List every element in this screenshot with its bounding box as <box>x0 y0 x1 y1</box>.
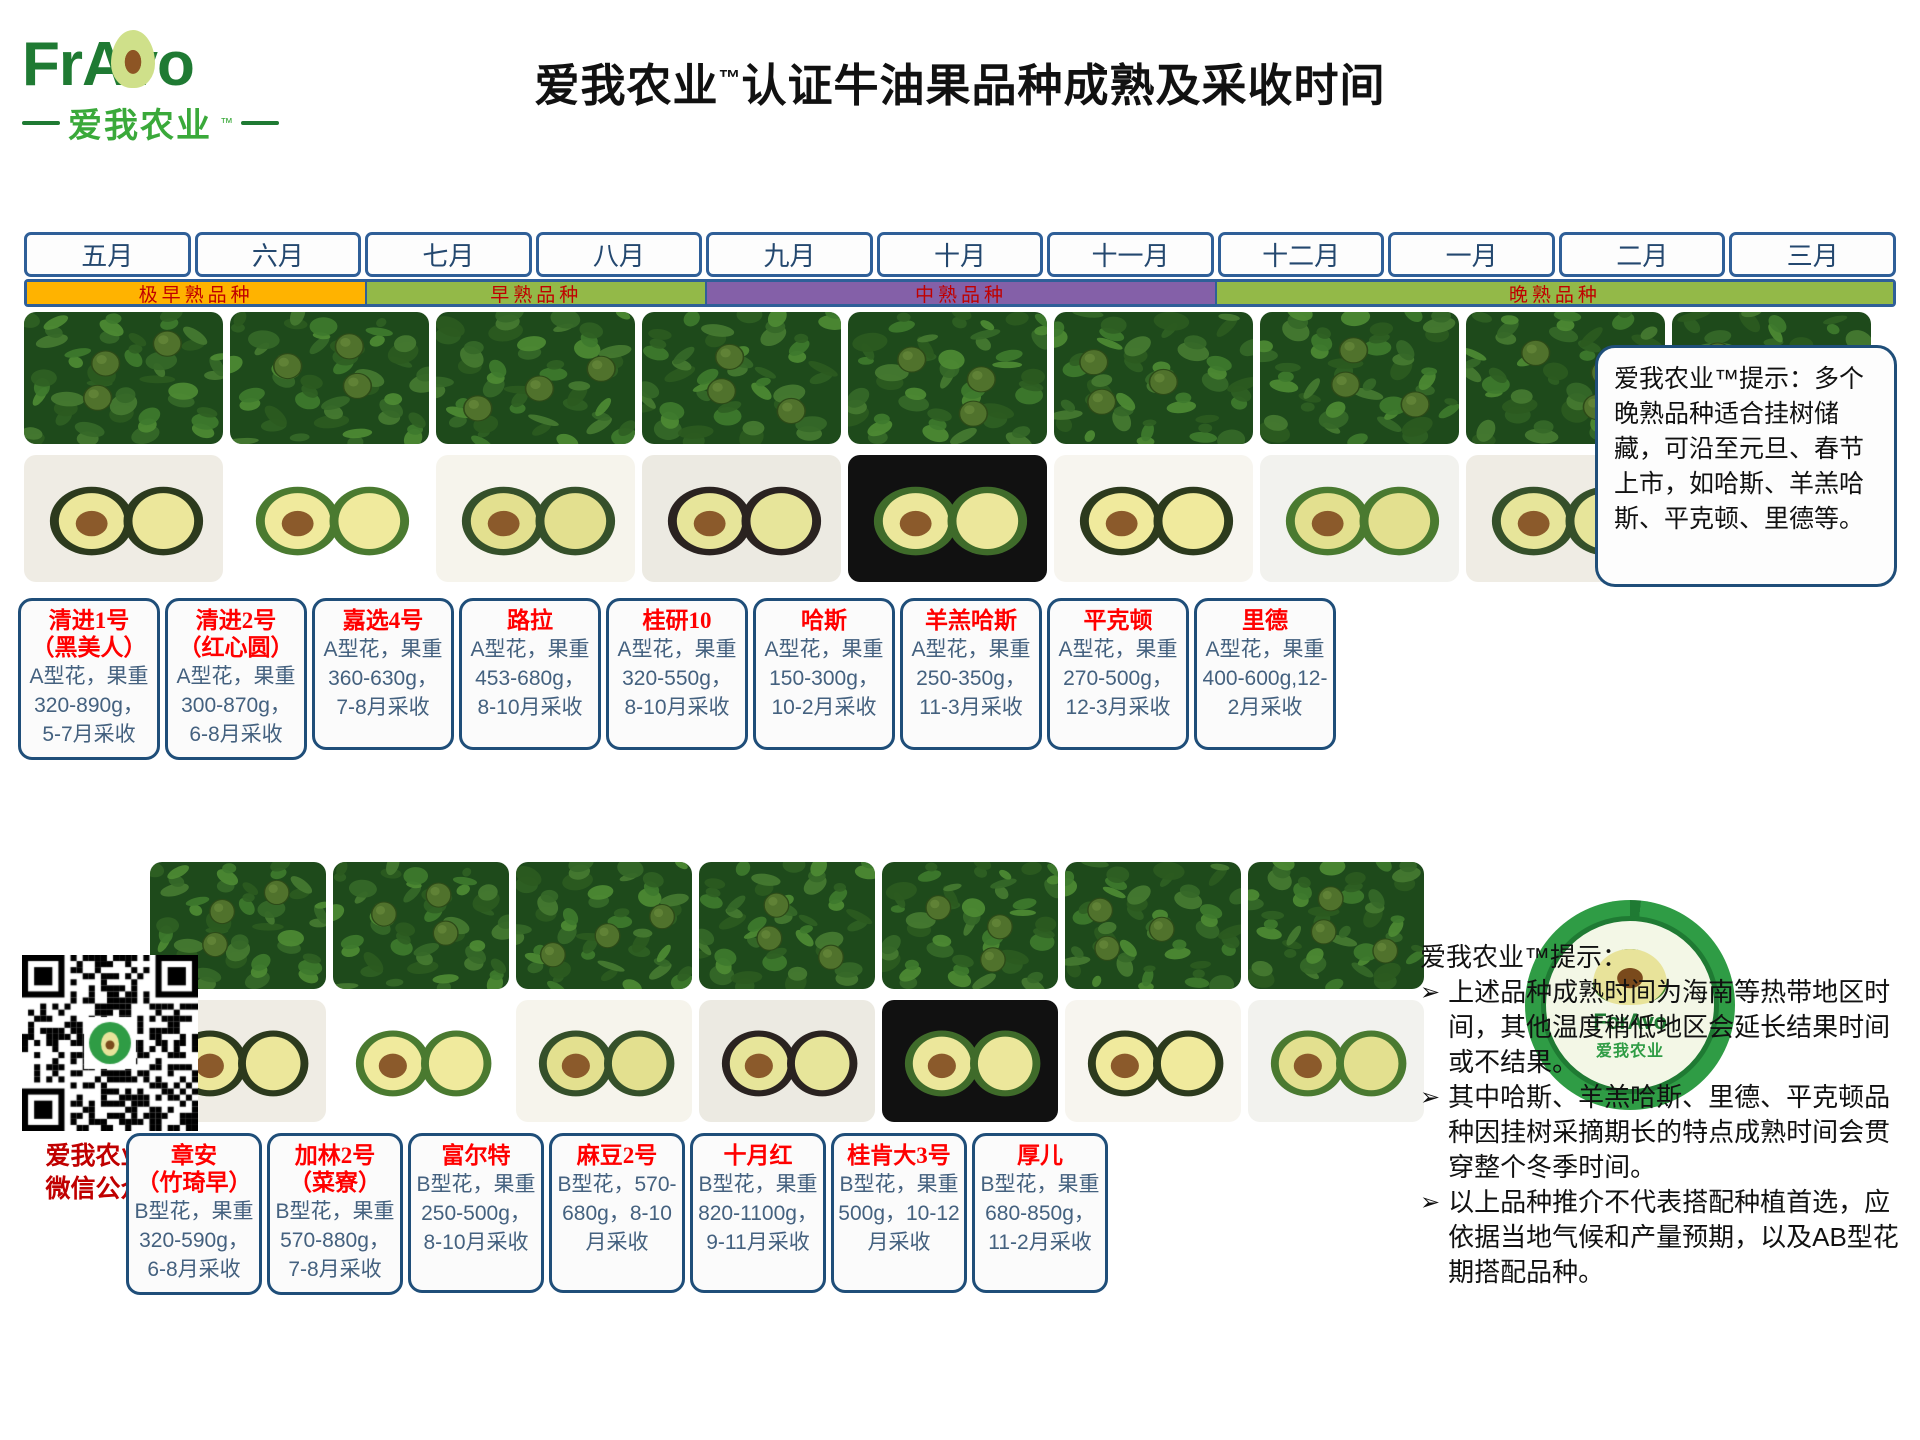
logo-rule-right <box>241 121 279 125</box>
row-b-fruit-photos <box>150 1000 1424 1122</box>
avocado-cut-5 <box>848 455 1047 582</box>
variety-cards-row-b: 章安（竹琦早）B型花，果重320-590g，6-8月采收加林2号（菜寮）B型花，… <box>126 1133 1108 1295</box>
variety-name: 麻豆2号 <box>556 1142 678 1169</box>
variety-cards-row-a: 清进1号（黑美人）A型花，果重320-890g，5-7月采收清进2号（红心圆）A… <box>18 598 1336 760</box>
variety-alias: （黑美人） <box>25 634 153 661</box>
month-cell-3: 七月 <box>365 232 532 277</box>
month-cell-9: 一月 <box>1388 232 1555 277</box>
variety-card[interactable]: 十月红B型花，果重820-1100g，9-11月采收 <box>690 1133 826 1293</box>
month-cell-7: 十一月 <box>1047 232 1214 277</box>
note-text: 以上品种推介不代表搭配种植首选，应依据当地气候和产量预期，以及AB型花期搭配品种… <box>1448 1185 1912 1290</box>
variety-card[interactable]: 哈斯A型花，果重150-300g，10-2月采收 <box>753 598 895 750</box>
month-cell-1: 五月 <box>24 232 191 277</box>
logo-avocado-icon: rAvo <box>59 34 194 96</box>
variety-card[interactable]: 羊羔哈斯A型花，果重250-350g，11-3月采收 <box>900 598 1042 750</box>
avocado-on-tree-4 <box>642 312 841 444</box>
page-title-tm: ™ <box>719 65 742 90</box>
variety-description: A型花，果重320-890g，5-7月采收 <box>25 662 153 749</box>
variety-name: 加林2号 <box>274 1142 396 1169</box>
variety-description: B型花，果重250-500g，8-10月采收 <box>415 1170 537 1257</box>
variety-alias: （竹琦早） <box>133 1169 255 1196</box>
variety-name: 哈斯 <box>760 607 888 634</box>
variety-name: 路拉 <box>466 607 594 634</box>
poster-page: FrAvo 爱我农业™ 爱我农业™认证牛油果品种成熟及采收时间 五月六月七月八月… <box>0 0 1920 1440</box>
month-cell-2: 六月 <box>195 232 362 277</box>
variety-name: 厚儿 <box>979 1142 1101 1169</box>
avocado-cut-b5 <box>882 1000 1058 1122</box>
avocado-cut-1 <box>24 455 223 582</box>
note-item: ➢其中哈斯、羊羔哈斯、里德、平克顿品种因挂树采摘期长的特点成熟时间会贯穿整个冬季… <box>1420 1080 1912 1185</box>
maturity-band-row: 极早熟品种早熟品种中熟品种晚熟品种 <box>24 279 1896 307</box>
avocado-cut-b4 <box>699 1000 875 1122</box>
variety-description: A型花，果重250-350g，11-3月采收 <box>907 635 1035 722</box>
maturity-band-3: 中熟品种 <box>707 282 1216 304</box>
month-header-row: 五月六月七月八月九月十月十一月十二月一月二月三月 <box>24 232 1896 277</box>
variety-description: B型花，果重500g，10-12月采收 <box>838 1170 960 1257</box>
avocado-on-tree-b3 <box>516 862 692 989</box>
variety-description: B型花，果重320-590g，6-8月采收 <box>133 1197 255 1284</box>
variety-name: 平克顿 <box>1054 607 1182 634</box>
bullet-arrow-icon: ➢ <box>1420 1185 1440 1220</box>
logo-wordmark: FrAvo <box>22 34 297 96</box>
variety-card[interactable]: 章安（竹琦早）B型花，果重320-590g，6-8月采收 <box>126 1133 262 1295</box>
variety-alias: （菜寮） <box>274 1169 396 1196</box>
avocado-cut-b7 <box>1248 1000 1424 1122</box>
avocado-on-tree-b2 <box>333 862 509 989</box>
variety-card[interactable]: 麻豆2号B型花，570-680g，8-10月采收 <box>549 1133 685 1293</box>
avocado-cut-b6 <box>1065 1000 1241 1122</box>
variety-card[interactable]: 平克顿A型花，果重270-500g，12-3月采收 <box>1047 598 1189 750</box>
month-cell-10: 二月 <box>1559 232 1726 277</box>
avocado-on-tree-1 <box>24 312 223 444</box>
variety-card[interactable]: 清进1号（黑美人）A型花，果重320-890g，5-7月采收 <box>18 598 160 760</box>
variety-card[interactable]: 路拉A型花，果重453-680g，8-10月采收 <box>459 598 601 750</box>
avocado-on-tree-2 <box>230 312 429 444</box>
variety-alias: （红心圆） <box>172 634 300 661</box>
variety-description: A型花，果重270-500g，12-3月采收 <box>1054 635 1182 722</box>
variety-name: 清进2号 <box>172 607 300 634</box>
variety-card[interactable]: 桂肯大3号B型花，果重500g，10-12月采收 <box>831 1133 967 1293</box>
avocado-cut-b3 <box>516 1000 692 1122</box>
avocado-on-tree-b6 <box>1065 862 1241 989</box>
month-cell-5: 九月 <box>706 232 873 277</box>
wechat-qr-code[interactable] <box>22 955 198 1131</box>
avocado-on-tree-3 <box>436 312 635 444</box>
tip-callout-late-varieties: 爱我农业™提示：多个晚熟品种适合挂树储藏，可沿至元旦、春节上市，如哈斯、羊羔哈斯… <box>1595 345 1897 587</box>
variety-name: 桂研10 <box>613 607 741 634</box>
note-item: ➢以上品种推介不代表搭配种植首选，应依据当地气候和产量预期，以及AB型花期搭配品… <box>1420 1185 1912 1290</box>
variety-card[interactable]: 清进2号（红心圆）A型花，果重300-870g，6-8月采收 <box>165 598 307 760</box>
variety-description: B型花，果重570-880g，7-8月采收 <box>274 1197 396 1284</box>
logo-letter-f: F <box>22 30 59 99</box>
variety-name: 章安 <box>133 1142 255 1169</box>
logo-tm-mark: ™ <box>220 115 233 130</box>
variety-card[interactable]: 加林2号（菜寮）B型花，果重570-880g，7-8月采收 <box>267 1133 403 1295</box>
avocado-cut-3 <box>436 455 635 582</box>
note-item: ➢上述品种成熟时间为海南等热带地区时间，其他温度稍低地区会延长结果时间或不结果。 <box>1420 975 1912 1080</box>
variety-name: 富尔特 <box>415 1142 537 1169</box>
variety-description: B型花，570-680g，8-10月采收 <box>556 1170 678 1257</box>
page-title: 爱我农业™认证牛油果品种成熟及采收时间 <box>400 48 1520 116</box>
avocado-cut-2 <box>230 455 429 582</box>
page-title-rest: 认证牛油果品种成熟及采收时间 <box>742 60 1386 111</box>
avocado-cut-7 <box>1260 455 1459 582</box>
variety-description: A型花，果重360-630g，7-8月采收 <box>319 635 447 722</box>
variety-name: 十月红 <box>697 1142 819 1169</box>
avocado-on-tree-7 <box>1260 312 1459 444</box>
variety-name: 桂肯大3号 <box>838 1142 960 1169</box>
avocado-on-tree-b5 <box>882 862 1058 989</box>
variety-description: A型花，果重400-600g,12-2月采收 <box>1201 635 1329 722</box>
variety-name: 里德 <box>1201 607 1329 634</box>
variety-name: 羊羔哈斯 <box>907 607 1035 634</box>
row-a-fruit-photos <box>24 455 1871 582</box>
page-title-brand: 爱我农业 <box>534 60 718 111</box>
variety-name: 清进1号 <box>25 607 153 634</box>
variety-description: B型花，果重820-1100g，9-11月采收 <box>697 1170 819 1257</box>
maturity-band-4: 晚熟品种 <box>1217 282 1893 304</box>
notes-list: ➢上述品种成熟时间为海南等热带地区时间，其他温度稍低地区会延长结果时间或不结果。… <box>1420 975 1912 1290</box>
avocado-cut-6 <box>1054 455 1253 582</box>
variety-description: A型花，果重453-680g，8-10月采收 <box>466 635 594 722</box>
brand-logo: FrAvo 爱我农业™ <box>22 34 297 144</box>
variety-description: A型花，果重150-300g，10-2月采收 <box>760 635 888 722</box>
maturity-band-2: 早熟品种 <box>367 282 707 304</box>
row-a-tree-photos <box>24 312 1871 444</box>
variety-name: 嘉选4号 <box>319 607 447 634</box>
variety-card[interactable]: 里德A型花，果重400-600g,12-2月采收 <box>1194 598 1336 750</box>
avocado-cut-b2 <box>333 1000 509 1122</box>
avocado-on-tree-6 <box>1054 312 1253 444</box>
avocado-on-tree-5 <box>848 312 1047 444</box>
bullet-arrow-icon: ➢ <box>1420 975 1440 1010</box>
avocado-on-tree-b7 <box>1248 862 1424 989</box>
avocado-on-tree-b4 <box>699 862 875 989</box>
variety-description: B型花，果重680-850g，11-2月采收 <box>979 1170 1101 1257</box>
variety-description: A型花，果重320-550g，8-10月采收 <box>613 635 741 722</box>
month-cell-11: 三月 <box>1729 232 1896 277</box>
notes-heading: 爱我农业™提示： <box>1420 940 1912 975</box>
maturity-band-1: 极早熟品种 <box>27 282 367 304</box>
note-text: 上述品种成熟时间为海南等热带地区时间，其他温度稍低地区会延长结果时间或不结果。 <box>1448 975 1912 1080</box>
logo-chinese-text: 爱我农业 <box>68 98 212 147</box>
bullet-arrow-icon: ➢ <box>1420 1080 1440 1115</box>
variety-card[interactable]: 嘉选4号A型花，果重360-630g，7-8月采收 <box>312 598 454 750</box>
variety-card[interactable]: 厚儿B型花，果重680-850g，11-2月采收 <box>972 1133 1108 1293</box>
month-cell-4: 八月 <box>536 232 703 277</box>
month-cell-8: 十二月 <box>1218 232 1385 277</box>
variety-card[interactable]: 富尔特B型花，果重250-500g，8-10月采收 <box>408 1133 544 1293</box>
logo-chinese-line: 爱我农业™ <box>22 98 297 147</box>
variety-card[interactable]: 桂研10A型花，果重320-550g，8-10月采收 <box>606 598 748 750</box>
logo-rule-left <box>22 121 60 125</box>
note-text: 其中哈斯、羊羔哈斯、里德、平克顿品种因挂树采摘期长的特点成熟时间会贯穿整个冬季时… <box>1448 1080 1912 1185</box>
row-b-tree-photos <box>150 862 1424 989</box>
footer-notes: 爱我农业™提示： ➢上述品种成熟时间为海南等热带地区时间，其他温度稍低地区会延长… <box>1420 940 1912 1290</box>
avocado-cut-4 <box>642 455 841 582</box>
variety-description: A型花，果重300-870g，6-8月采收 <box>172 662 300 749</box>
month-cell-6: 十月 <box>877 232 1044 277</box>
